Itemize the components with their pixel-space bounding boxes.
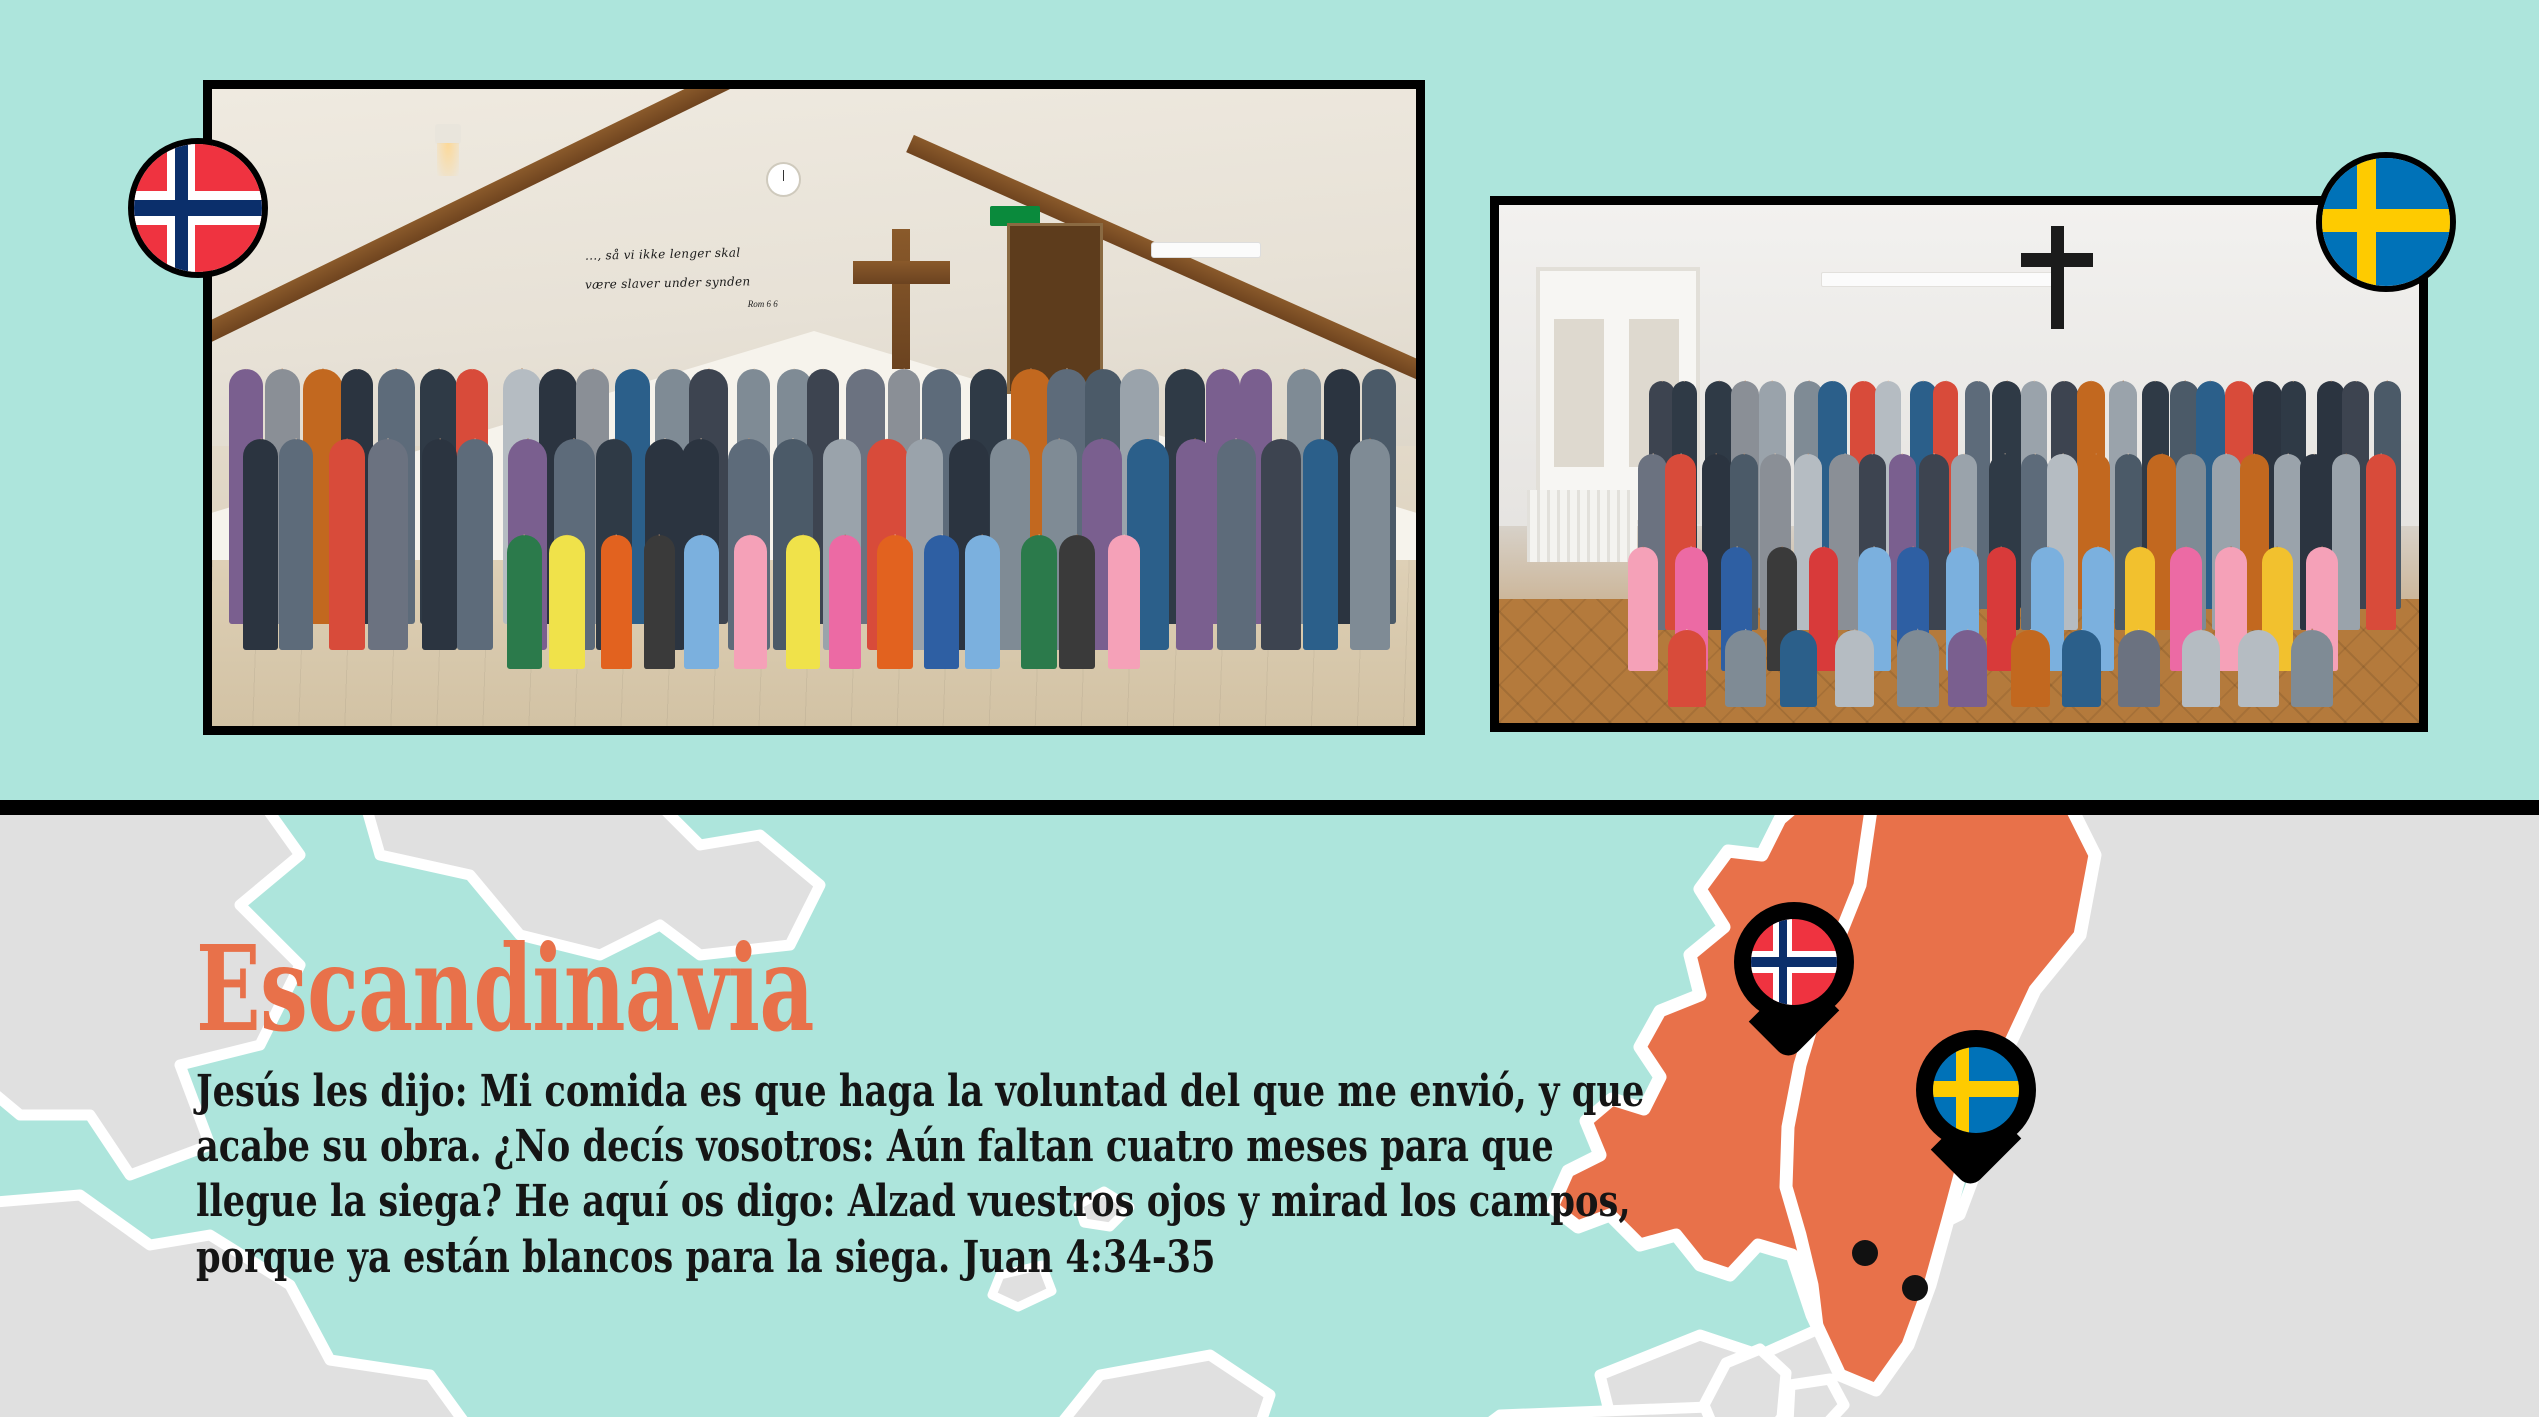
head [708, 368, 709, 369]
scripture-paragraph: Jesús les dijo: Mi comida es que haga la… [196, 1064, 1668, 1286]
head [566, 534, 567, 535]
head [659, 534, 660, 535]
person [1176, 439, 1213, 649]
head [2096, 453, 2097, 454]
person [279, 439, 313, 649]
person [1217, 439, 1256, 649]
head [2098, 546, 2099, 547]
sweden-flag-icon [1933, 1047, 2019, 1133]
person [2182, 630, 2220, 708]
head [438, 369, 439, 370]
head [1684, 381, 1685, 382]
head [2140, 546, 2141, 547]
head [2267, 381, 2268, 382]
head [471, 369, 472, 370]
head [2331, 381, 2332, 382]
head [1823, 546, 1824, 547]
head [1680, 453, 1681, 454]
head [673, 369, 674, 370]
head [1066, 368, 1067, 369]
head [356, 369, 357, 370]
person [2238, 630, 2278, 708]
head [1341, 369, 1342, 370]
head [2034, 381, 2035, 382]
person [924, 535, 958, 669]
head [2034, 453, 2035, 454]
head [524, 534, 525, 535]
head [2239, 381, 2240, 382]
person [1948, 630, 1987, 708]
sweden-flag-badge [2316, 152, 2456, 292]
head [753, 369, 754, 370]
person [243, 439, 279, 649]
head [1059, 439, 1060, 440]
head [2064, 381, 2065, 382]
head [2387, 381, 2388, 382]
sweden-flag-icon [2322, 158, 2450, 286]
head [1010, 439, 1011, 440]
head [1962, 546, 1963, 547]
head [1832, 381, 1833, 382]
head [802, 534, 803, 535]
head [665, 439, 666, 440]
head [1719, 381, 1720, 382]
head [632, 369, 633, 370]
head [1643, 546, 1644, 547]
head [2231, 546, 2232, 547]
person [2366, 454, 2396, 630]
head [282, 369, 283, 370]
head [527, 439, 528, 440]
map-pin-norway[interactable] [1734, 902, 1854, 1054]
person [2118, 630, 2159, 708]
photo-right-image [1499, 205, 2419, 723]
head [842, 439, 843, 440]
head [1798, 629, 1799, 630]
head [2191, 453, 2192, 454]
section-divider [0, 800, 2539, 815]
head [613, 439, 614, 440]
head [823, 369, 824, 370]
head [1030, 368, 1031, 369]
head [941, 369, 942, 370]
head [887, 438, 888, 439]
head [1378, 369, 1379, 370]
head [246, 369, 247, 370]
head [2004, 453, 2005, 454]
person [507, 535, 542, 669]
person [644, 535, 675, 669]
head [1124, 534, 1125, 535]
head [750, 534, 751, 535]
head [2314, 453, 2315, 454]
person [601, 535, 632, 669]
person [1835, 630, 1874, 708]
person [2062, 630, 2102, 708]
norway-congregation-photo: ..., så vi ikke lenger skal være slaver … [203, 80, 1425, 735]
head [1652, 453, 1653, 454]
head [592, 369, 593, 370]
head [2287, 453, 2288, 454]
head [2128, 453, 2129, 454]
head [1256, 369, 1257, 370]
head [1844, 453, 1845, 454]
head [1038, 534, 1039, 535]
poster-canvas: ..., så vi ikke lenger skal være slaver … [0, 0, 2539, 1417]
city-marker-stockholm [1902, 1275, 1928, 1301]
head [439, 439, 440, 440]
person [422, 439, 457, 649]
head [2254, 453, 2255, 454]
head [1280, 439, 1281, 440]
person [1897, 630, 1939, 708]
person [2011, 630, 2050, 708]
head [1934, 453, 1935, 454]
head [2277, 546, 2278, 547]
head [1772, 381, 1773, 382]
head [2184, 381, 2185, 382]
person [734, 535, 767, 669]
head [2185, 546, 2186, 547]
head [1304, 369, 1305, 370]
head [1946, 381, 1947, 382]
head [2381, 453, 2382, 454]
head [2311, 629, 2313, 631]
person [1059, 535, 1095, 669]
head [1139, 368, 1140, 369]
norway-flag-icon [134, 144, 262, 272]
head [322, 368, 323, 369]
head [387, 439, 388, 440]
person [1108, 535, 1140, 669]
person [829, 535, 861, 669]
head [1236, 439, 1237, 440]
head [700, 439, 701, 440]
person [1780, 630, 1816, 708]
person [1668, 630, 1706, 708]
head [1872, 453, 1873, 454]
head [794, 369, 795, 370]
head [1874, 546, 1875, 547]
head [616, 534, 617, 535]
person [1725, 630, 1766, 708]
head [1369, 439, 1370, 440]
head [924, 439, 925, 440]
person [2291, 630, 2333, 708]
photo-left-image: ..., så vi ikke lenger skal være slaver … [212, 89, 1416, 726]
head [1320, 439, 1321, 440]
head [792, 439, 793, 440]
head [988, 369, 989, 370]
head [1103, 369, 1104, 370]
head [2006, 381, 2007, 382]
person [786, 535, 820, 669]
text-block: Escandinavia Jesús les dijo: Mi comida e… [196, 935, 1676, 1285]
head [865, 368, 866, 369]
head [1782, 546, 1783, 547]
head [1662, 381, 1663, 382]
head [903, 369, 904, 370]
photo-band: ..., så vi ikke lenger skal være slaver … [0, 0, 2539, 800]
head [982, 534, 983, 535]
map-pin-sweden[interactable] [1916, 1030, 2036, 1182]
head [2226, 453, 2227, 454]
head [1102, 438, 1103, 439]
norway-flag-icon [1751, 919, 1837, 1005]
head [2355, 381, 2356, 382]
person [329, 439, 364, 649]
head [574, 438, 575, 439]
head [941, 534, 942, 535]
norway-flag-badge [128, 138, 268, 278]
person [684, 535, 719, 669]
person [1303, 439, 1338, 649]
head [296, 439, 297, 440]
head [1194, 439, 1195, 440]
person [1021, 535, 1057, 669]
head [968, 439, 969, 440]
head [2161, 453, 2162, 454]
head [2001, 546, 2002, 547]
head [2123, 381, 2124, 382]
head [2155, 381, 2156, 382]
city-marker-oslo [1852, 1240, 1878, 1266]
congregation-crowd [1499, 205, 2419, 723]
head [1691, 546, 1692, 547]
head [2293, 381, 2294, 382]
head [522, 368, 523, 369]
person [457, 439, 494, 649]
head [2090, 381, 2091, 382]
head [1185, 368, 1186, 369]
person [549, 535, 585, 669]
head [1902, 453, 1903, 454]
head [475, 439, 476, 440]
head [2062, 453, 2063, 454]
head [845, 534, 846, 535]
head [1808, 381, 1809, 382]
head [1223, 369, 1224, 370]
person [965, 535, 1000, 669]
head [1744, 453, 1745, 454]
head [748, 438, 749, 439]
head [1147, 438, 1148, 439]
head [895, 534, 896, 535]
head [1888, 381, 1889, 382]
head [2047, 546, 2048, 547]
head [347, 439, 348, 440]
head [1745, 381, 1746, 382]
head [1864, 381, 1865, 382]
person [1628, 547, 1658, 671]
person [368, 439, 407, 649]
page-title: Escandinavia [196, 935, 1262, 1044]
head [1775, 453, 1776, 454]
head [1977, 381, 1978, 382]
person [1350, 439, 1389, 649]
person [1261, 439, 1300, 649]
head [701, 534, 702, 535]
head [558, 369, 559, 370]
person [877, 535, 913, 669]
congregation-crowd [212, 89, 1416, 726]
head [2322, 546, 2323, 547]
sweden-congregation-photo [1490, 196, 2428, 732]
head [1736, 546, 1737, 547]
head [396, 369, 397, 370]
head [1912, 546, 1913, 547]
head [2210, 381, 2211, 382]
head [1077, 534, 1078, 535]
head [1716, 453, 1717, 454]
head [1807, 453, 1808, 454]
head [1964, 453, 1965, 454]
head [2345, 453, 2346, 454]
head [260, 439, 261, 440]
head [1923, 381, 1924, 382]
